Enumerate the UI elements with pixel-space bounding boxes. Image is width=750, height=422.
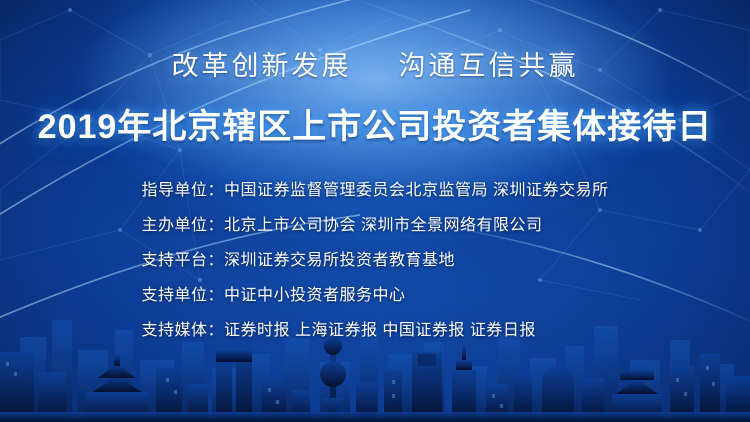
poster-content: 改革创新发展 沟通互信共赢 2019年北京辖区上市公司投资者集体接待日 指导单位… <box>0 0 750 422</box>
credit-row: 主办单位： 北京上市公司协会 深圳市全景网络有限公司 <box>142 211 609 235</box>
credit-row: 支持媒体： 证券时报 上海证券报 中国证券报 证券日报 <box>142 316 609 340</box>
slogan-right-text: 沟通互信共赢 <box>399 51 579 81</box>
poster-slogan: 改革创新发展 沟通互信共赢 <box>171 44 578 83</box>
credit-row: 指导单位： 中国证券监督管理委员会北京监管局 深圳证券交易所 <box>142 176 609 200</box>
poster-canvas: 改革创新发展 沟通互信共赢 2019年北京辖区上市公司投资者集体接待日 指导单位… <box>0 0 750 422</box>
credit-label: 指导单位： <box>142 176 225 200</box>
credit-value: 北京上市公司协会 深圳市全景网络有限公司 <box>224 211 542 235</box>
poster-main-title: 2019年北京辖区上市公司投资者集体接待日 <box>38 99 713 148</box>
slogan-left-text: 改革创新发展 <box>171 51 351 81</box>
credit-label: 主办单位： <box>142 211 225 235</box>
credit-label: 支持单位： <box>142 281 225 305</box>
credit-row: 支持平台： 深圳证券交易所投资者教育基地 <box>142 246 609 270</box>
credit-label: 支持媒体： <box>142 316 225 340</box>
poster-credits-list: 指导单位： 中国证券监督管理委员会北京监管局 深圳证券交易所 主办单位： 北京上… <box>142 176 609 340</box>
credit-value: 深圳证券交易所投资者教育基地 <box>224 246 455 270</box>
credit-value: 中国证券监督管理委员会北京监管局 深圳证券交易所 <box>224 176 608 200</box>
credit-row: 支持单位： 中证中小投资者服务中心 <box>142 281 609 305</box>
credit-label: 支持平台： <box>142 246 225 270</box>
credit-value: 证券时报 上海证券报 中国证券报 证券日报 <box>224 316 536 340</box>
credit-value: 中证中小投资者服务中心 <box>224 281 406 305</box>
